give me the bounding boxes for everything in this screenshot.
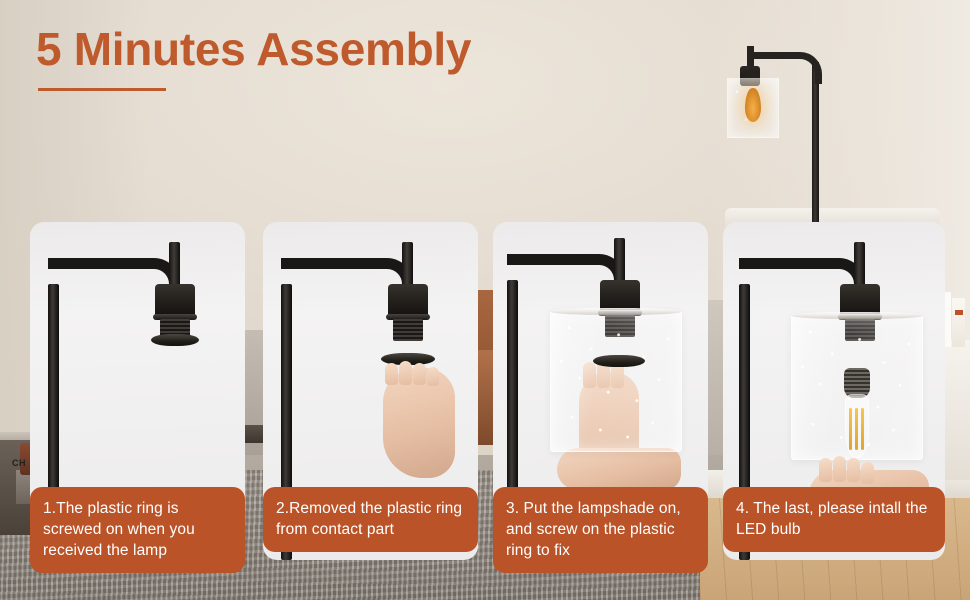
lamp-socket-thread	[393, 319, 423, 341]
glass-shade-rim	[791, 312, 923, 319]
hero-edison-bulb-icon	[745, 88, 761, 122]
hero-lamp-pole	[812, 62, 819, 230]
glass-shade-rim	[550, 308, 682, 315]
hero-lamp	[690, 0, 970, 230]
step-caption-2: 2.Removed the plastic ring from contact …	[263, 487, 478, 552]
step-caption-1: 1.The plastic ring is screwed on when yo…	[30, 487, 245, 573]
plastic-ring-attached	[151, 334, 199, 346]
lamp-drop-stem	[402, 242, 413, 286]
book-3	[952, 298, 965, 347]
lamp-drop-stem	[614, 238, 625, 282]
decor-book-label: CH	[12, 458, 26, 468]
finger-4	[427, 367, 439, 386]
plastic-ring-being-fitted	[593, 355, 645, 367]
led-filament-1	[849, 408, 852, 450]
led-filament-3	[861, 408, 864, 450]
lamp-drop-stem	[169, 242, 180, 286]
finger-2	[833, 456, 846, 482]
finger-1	[385, 363, 398, 385]
hand-supporting-shade	[557, 448, 681, 490]
seeded-glass-shade	[550, 310, 682, 452]
finger-1	[819, 458, 832, 482]
led-filament-2	[855, 408, 858, 450]
lamp-drop-stem	[854, 242, 865, 286]
finger-3	[413, 363, 426, 385]
finger-3	[847, 458, 860, 482]
page-title: 5 Minutes Assembly	[36, 22, 471, 76]
step-caption-4: 4. The last, please intall the LED bulb	[723, 487, 945, 552]
title-underline	[38, 88, 166, 91]
step-caption-3: 3. Put the lampshade on, and screw on th…	[493, 487, 708, 573]
finger-2	[399, 361, 412, 385]
book-marker-1	[955, 310, 963, 315]
finger-4	[861, 462, 874, 484]
